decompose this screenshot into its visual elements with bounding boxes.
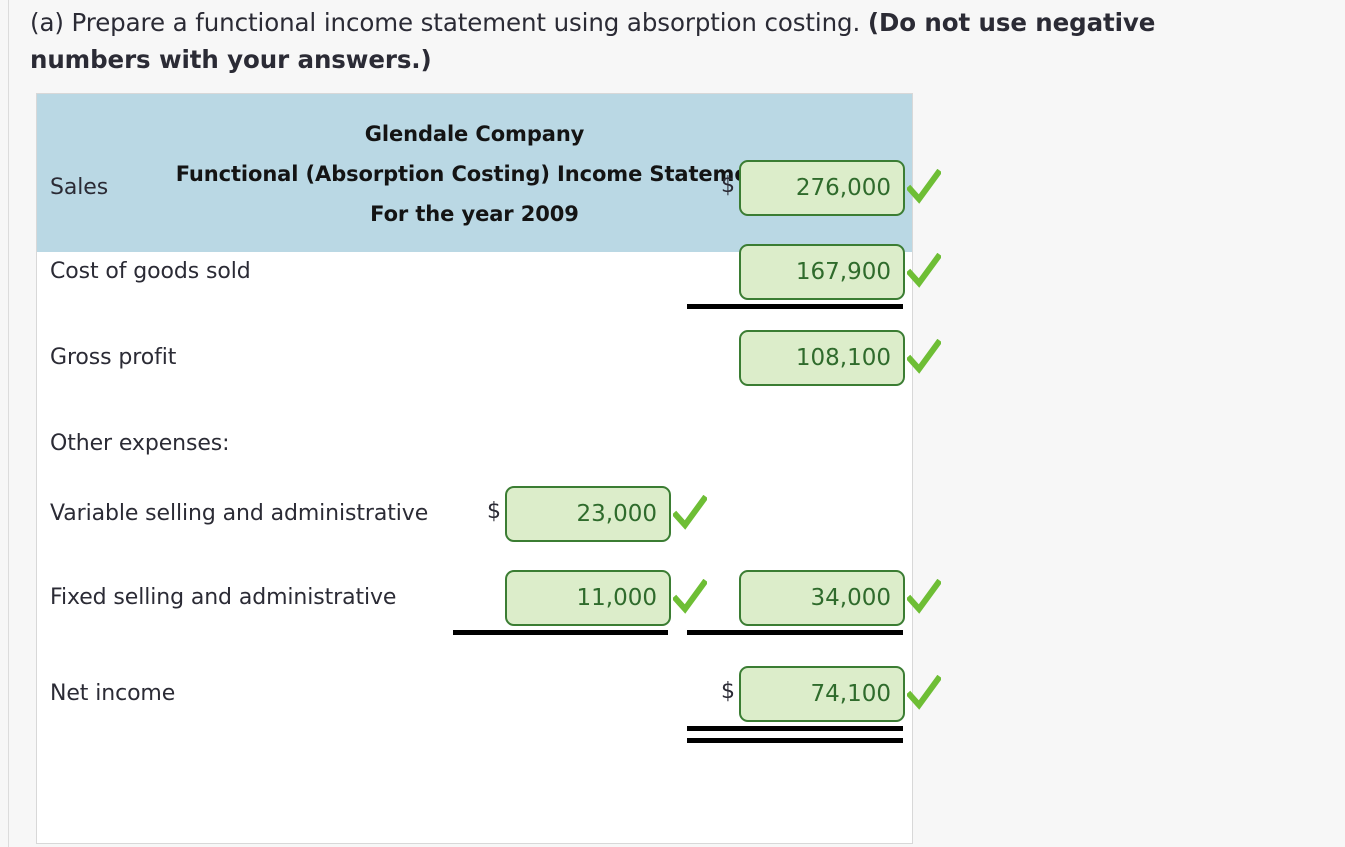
- statement-company-name: Glendale Company: [37, 114, 912, 154]
- amount-input[interactable]: 276,000: [739, 160, 905, 216]
- check-mark-icon: [907, 579, 941, 617]
- check-mark-icon: [673, 579, 707, 617]
- value-cell-col1: $23,000: [469, 486, 704, 542]
- amount-input[interactable]: 23,000: [505, 486, 671, 542]
- row-label: Sales: [50, 174, 108, 202]
- row-label: Other expenses:: [50, 430, 229, 458]
- row-label: Gross profit: [50, 344, 176, 372]
- amount-input[interactable]: 34,000: [739, 570, 905, 626]
- statement-body: Sales$276,000Cost of goods sold167,900Gr…: [37, 252, 912, 843]
- currency-symbol: $: [487, 498, 501, 526]
- currency-symbol: $: [721, 172, 735, 200]
- question-prompt: (a) Prepare a functional income statemen…: [30, 4, 1270, 78]
- value-cell-col1: 11,000: [469, 570, 704, 626]
- total-underline: [687, 738, 903, 743]
- total-underline: [687, 726, 903, 731]
- question-text-normal: (a) Prepare a functional income statemen…: [30, 8, 868, 37]
- statement-row: Fixed selling and administrative11,00034…: [37, 570, 912, 660]
- value-cell-col2: $276,000: [703, 160, 939, 216]
- amount-input[interactable]: 108,100: [739, 330, 905, 386]
- currency-symbol: $: [721, 678, 735, 706]
- total-underline: [687, 304, 903, 309]
- total-underline: [453, 630, 668, 635]
- total-underline: [687, 630, 903, 635]
- check-mark-icon: [907, 339, 941, 377]
- row-label: Cost of goods sold: [50, 258, 251, 286]
- statement-row: Net income$74,100: [37, 666, 912, 756]
- statement-row: Gross profit108,100: [37, 330, 912, 420]
- row-label: Net income: [50, 680, 175, 708]
- check-mark-icon: [907, 675, 941, 713]
- amount-input[interactable]: 167,900: [739, 244, 905, 300]
- value-cell-col2: $74,100: [703, 666, 939, 722]
- statement-row: Sales$276,000: [37, 160, 912, 250]
- amount-input[interactable]: 11,000: [505, 570, 671, 626]
- amount-input[interactable]: 74,100: [739, 666, 905, 722]
- income-statement-table: Glendale Company Functional (Absorption …: [36, 93, 913, 844]
- statement-row: Cost of goods sold167,900: [37, 244, 912, 334]
- row-label: Fixed selling and administrative: [50, 584, 396, 612]
- value-cell-col2: 34,000: [703, 570, 939, 626]
- page-left-rule: [8, 0, 9, 847]
- check-mark-icon: [673, 495, 707, 533]
- check-mark-icon: [907, 253, 941, 291]
- row-label: Variable selling and administrative: [50, 500, 428, 528]
- statement-row: Variable selling and administrative$23,0…: [37, 486, 912, 576]
- value-cell-col2: 167,900: [703, 244, 939, 300]
- value-cell-col2: 108,100: [703, 330, 939, 386]
- check-mark-icon: [907, 169, 941, 207]
